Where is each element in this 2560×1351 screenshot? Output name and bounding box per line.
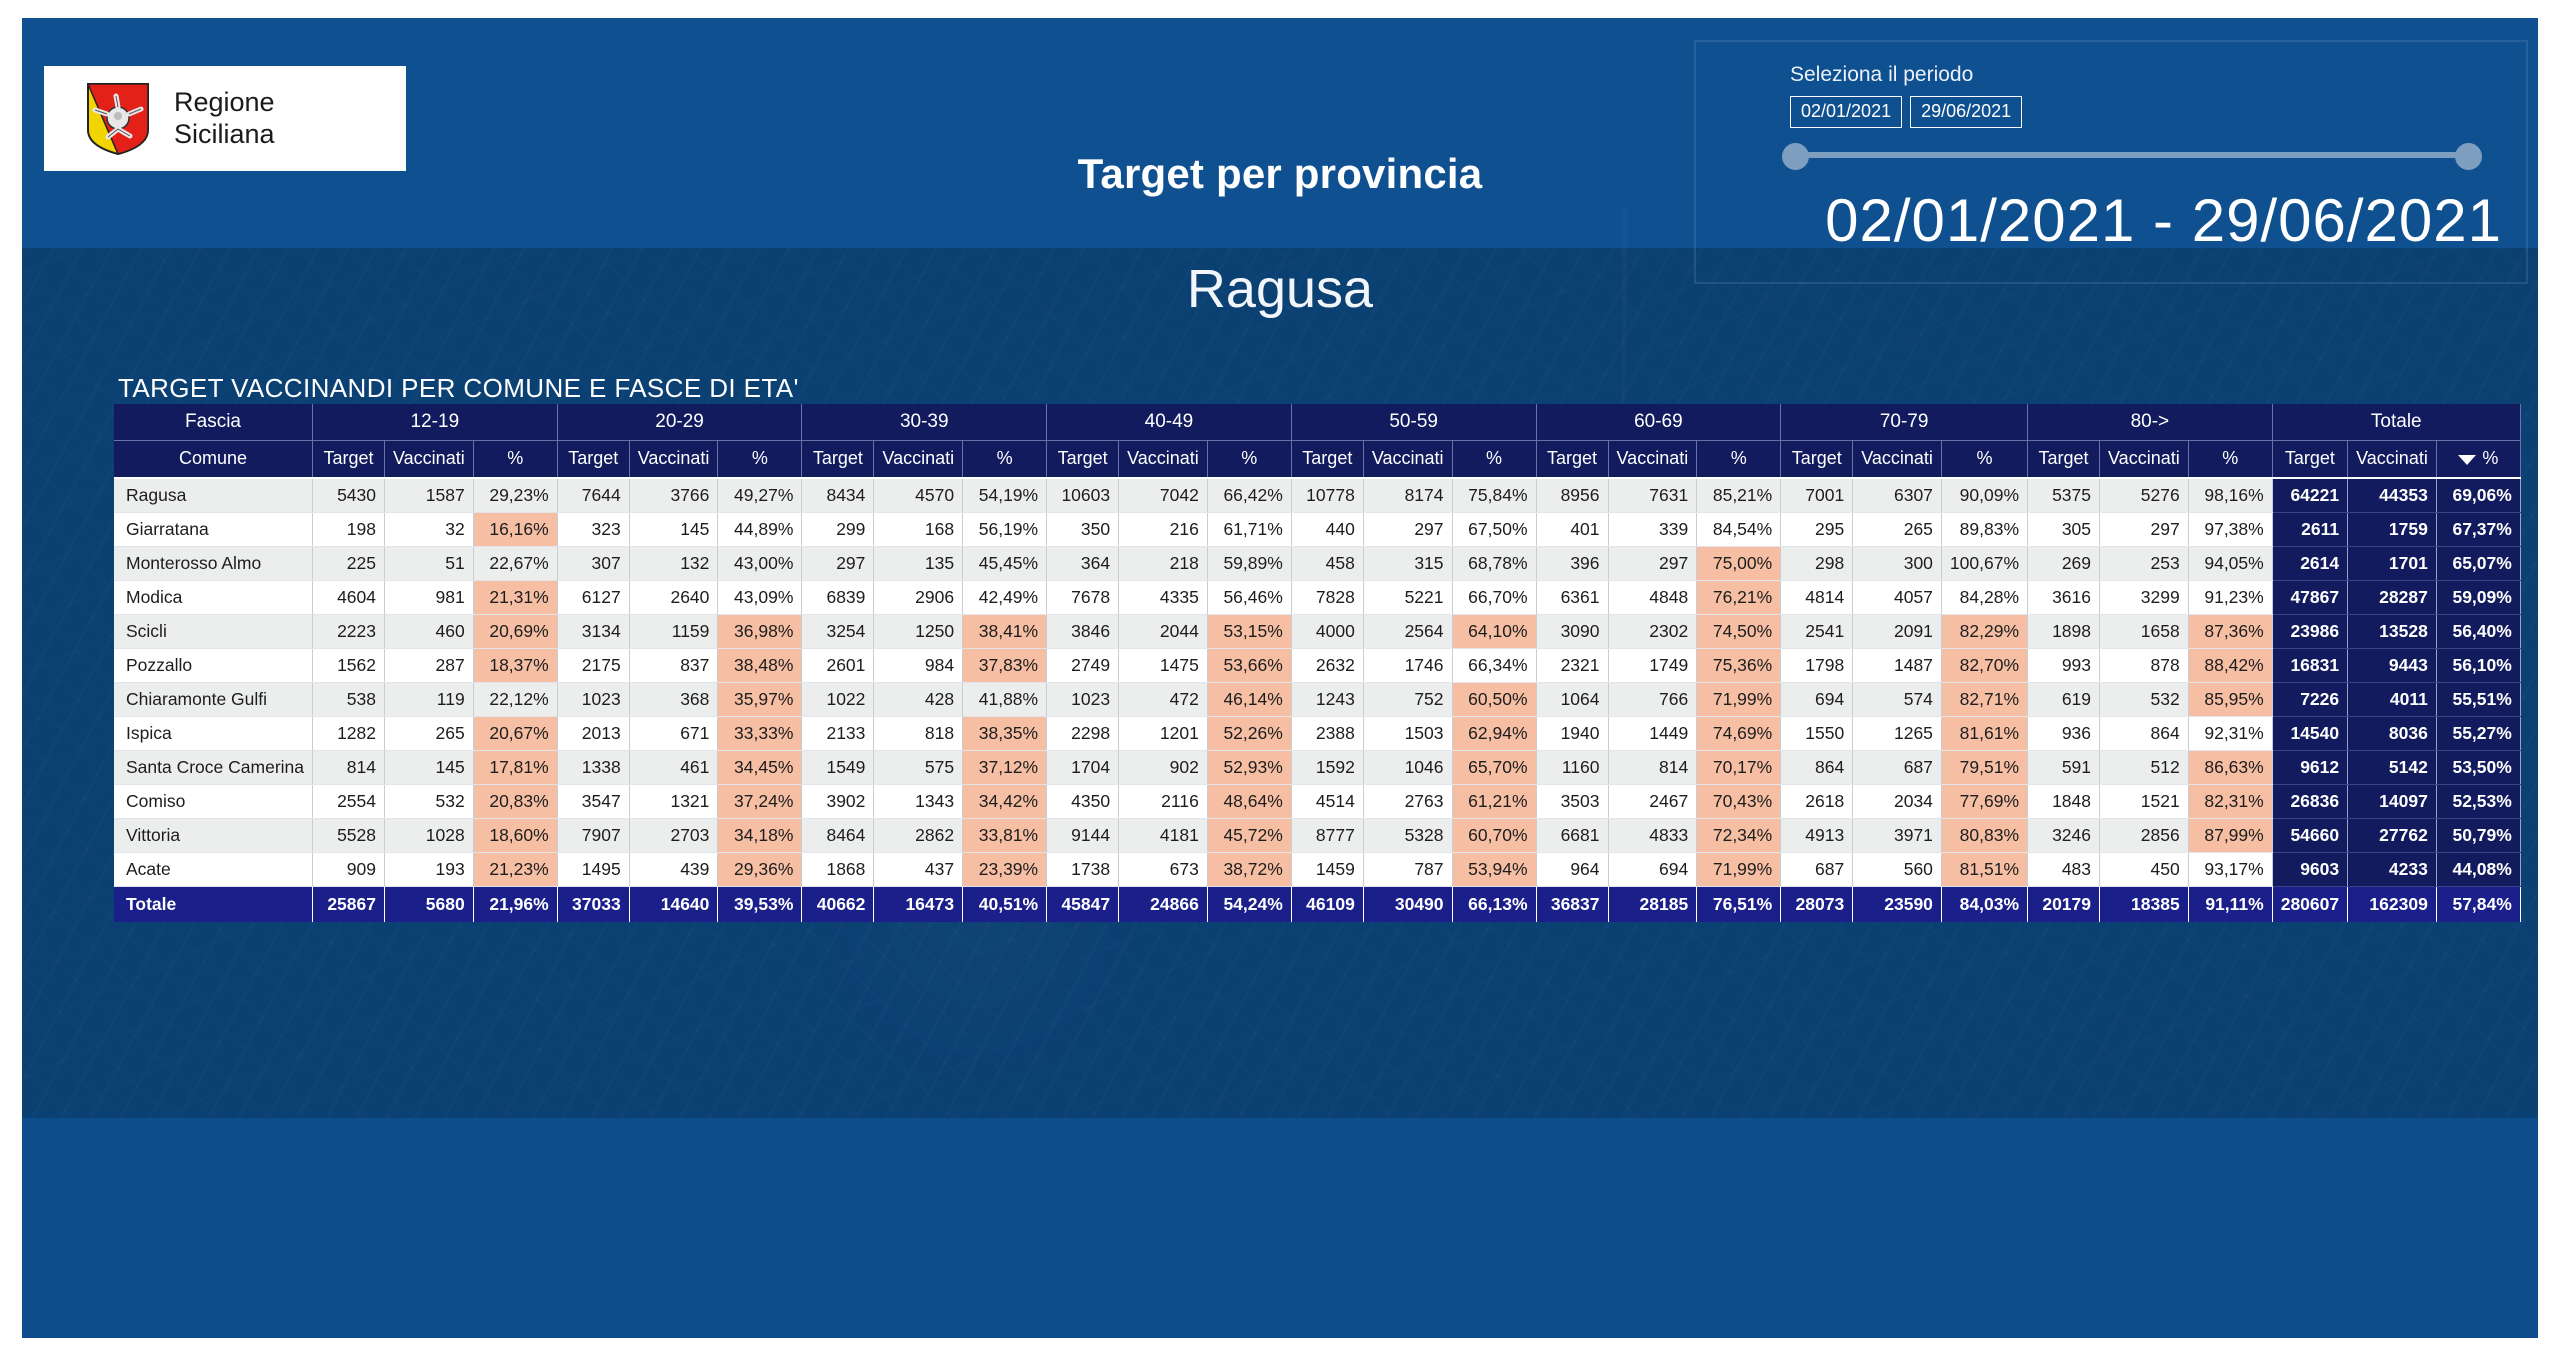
cell-12-19-vaccinati: 145 xyxy=(385,750,474,784)
cell-30-39-target: 8434 xyxy=(802,478,874,512)
sort-descending-icon xyxy=(2458,455,2476,465)
cell-12-19-pct: 21,31% xyxy=(473,580,557,614)
cell-60-69-target: 1064 xyxy=(1536,682,1608,716)
cell-80---vaccinati: 864 xyxy=(2100,716,2189,750)
cell-30-39-vaccinati: 437 xyxy=(874,852,963,886)
cell-60-69-target: 3090 xyxy=(1536,614,1608,648)
cell-40-49-vaccinati: 1475 xyxy=(1119,648,1208,682)
table-row[interactable]: Scicli222346020,69%3134115936,98%3254125… xyxy=(114,614,2520,648)
cell-70-79-vaccinati: 1265 xyxy=(1853,716,1942,750)
cell-40-49-target: 1704 xyxy=(1047,750,1119,784)
column-header-30-39-target[interactable]: Target xyxy=(802,440,874,478)
cell-20-29-vaccinati: 837 xyxy=(629,648,718,682)
column-header-70-79-pct[interactable]: % xyxy=(1941,440,2027,478)
column-header-20-29-target[interactable]: Target xyxy=(557,440,629,478)
cell-40-49-pct: 52,26% xyxy=(1207,716,1291,750)
cell-70-79-vaccinati: 574 xyxy=(1853,682,1942,716)
table-row[interactable]: Comiso255453220,83%3547132137,24%3902134… xyxy=(114,784,2520,818)
cell-30-39-vaccinati: 984 xyxy=(874,648,963,682)
cell-20-29-vaccinati: 368 xyxy=(629,682,718,716)
cell-40-49-vaccinati: 902 xyxy=(1119,750,1208,784)
cell-12-19-vaccinati: 119 xyxy=(385,682,474,716)
column-header-comune[interactable]: Comune xyxy=(114,440,313,478)
cell-comune: Giarratana xyxy=(114,512,313,546)
cell-30-39-vaccinati: 1250 xyxy=(874,614,963,648)
column-header-40-49-vaccinati[interactable]: Vaccinati xyxy=(1119,440,1208,478)
cell-20-29-target: 1023 xyxy=(557,682,629,716)
cell-totale-target: 9603 xyxy=(2272,852,2347,886)
cell-60-69-vaccinati: 1749 xyxy=(1608,648,1697,682)
column-header-60-69-vaccinati[interactable]: Vaccinati xyxy=(1608,440,1697,478)
cell-30-39-vaccinati: 4570 xyxy=(874,478,963,512)
cell-total-30-39-target: 40662 xyxy=(802,886,874,922)
cell-30-39-pct: 41,88% xyxy=(963,682,1047,716)
cell-60-69-target: 1160 xyxy=(1536,750,1608,784)
cell-30-39-vaccinati: 818 xyxy=(874,716,963,750)
cell-70-79-target: 295 xyxy=(1781,512,1853,546)
date-from-chip[interactable]: 02/01/2021 xyxy=(1790,96,1902,128)
cell-comune: Santa Croce Camerina xyxy=(114,750,313,784)
cell-30-39-pct: 37,83% xyxy=(963,648,1047,682)
cell-20-29-vaccinati: 1159 xyxy=(629,614,718,648)
cell-totale-vaccinati: 27762 xyxy=(2348,818,2437,852)
cell-60-69-target: 401 xyxy=(1536,512,1608,546)
cell-80---target: 936 xyxy=(2028,716,2100,750)
period-slider[interactable] xyxy=(1782,140,2482,170)
cell-70-79-vaccinati: 265 xyxy=(1853,512,1942,546)
cell-30-39-target: 299 xyxy=(802,512,874,546)
dashboard-root: Regione Siciliana Target per provincia R… xyxy=(0,0,2560,1351)
cell-60-69-vaccinati: 694 xyxy=(1608,852,1697,886)
slider-knob-right[interactable] xyxy=(2455,143,2482,170)
cell-40-49-pct: 53,66% xyxy=(1207,648,1291,682)
cell-70-79-pct: 81,61% xyxy=(1941,716,2027,750)
table-row[interactable]: Santa Croce Camerina81414517,81%13384613… xyxy=(114,750,2520,784)
cell-70-79-vaccinati: 687 xyxy=(1853,750,1942,784)
cell-60-69-pct: 76,21% xyxy=(1697,580,1781,614)
cell-50-59-target: 1592 xyxy=(1291,750,1363,784)
cell-total-60-69-vaccinati: 28185 xyxy=(1608,886,1697,922)
cell-12-19-target: 1282 xyxy=(313,716,385,750)
cell-40-49-target: 350 xyxy=(1047,512,1119,546)
cell-totale-vaccinati: 1759 xyxy=(2348,512,2437,546)
cell-70-79-target: 687 xyxy=(1781,852,1853,886)
cell-totale-vaccinati: 8036 xyxy=(2348,716,2437,750)
cell-30-39-vaccinati: 575 xyxy=(874,750,963,784)
group-header-12-19: 12-19 xyxy=(313,404,558,440)
cell-30-39-target: 6839 xyxy=(802,580,874,614)
cell-12-19-vaccinati: 1587 xyxy=(385,478,474,512)
cell-12-19-target: 225 xyxy=(313,546,385,580)
cell-60-69-target: 964 xyxy=(1536,852,1608,886)
cell-70-79-pct: 82,70% xyxy=(1941,648,2027,682)
table-row[interactable]: Ragusa5430158729,23%7644376649,27%843445… xyxy=(114,478,2520,512)
cell-12-19-target: 1562 xyxy=(313,648,385,682)
brand-line-1: Regione xyxy=(174,87,275,119)
cell-30-39-target: 3902 xyxy=(802,784,874,818)
cell-50-59-pct: 66,70% xyxy=(1452,580,1536,614)
cell-20-29-vaccinati: 439 xyxy=(629,852,718,886)
cell-50-59-pct: 65,70% xyxy=(1452,750,1536,784)
cell-70-79-vaccinati: 1487 xyxy=(1853,648,1942,682)
cell-30-39-pct: 33,81% xyxy=(963,818,1047,852)
table-row[interactable]: Acate90919321,23%149543929,36%186843723,… xyxy=(114,852,2520,886)
cell-12-19-pct: 21,23% xyxy=(473,852,557,886)
cell-50-59-pct: 53,94% xyxy=(1452,852,1536,886)
cell-80---vaccinati: 512 xyxy=(2100,750,2189,784)
cell-40-49-pct: 59,89% xyxy=(1207,546,1291,580)
cell-total-60-69-target: 36837 xyxy=(1536,886,1608,922)
period-selector[interactable]: Seleziona il periodo 02/01/2021 29/06/20… xyxy=(1782,63,2482,170)
column-header-12-19-pct[interactable]: % xyxy=(473,440,557,478)
cell-totale-pct: 44,08% xyxy=(2436,852,2520,886)
cell-30-39-vaccinati: 2906 xyxy=(874,580,963,614)
cell-50-59-vaccinati: 752 xyxy=(1363,682,1452,716)
cell-40-49-pct: 66,42% xyxy=(1207,478,1291,512)
cell-20-29-vaccinati: 1321 xyxy=(629,784,718,818)
cell-20-29-target: 1338 xyxy=(557,750,629,784)
cell-40-49-vaccinati: 1201 xyxy=(1119,716,1208,750)
cell-40-49-target: 3846 xyxy=(1047,614,1119,648)
cell-total-40-49-pct: 54,24% xyxy=(1207,886,1291,922)
cell-50-59-target: 2632 xyxy=(1291,648,1363,682)
cell-70-79-vaccinati: 560 xyxy=(1853,852,1942,886)
table-head: Fascia12-1920-2930-3940-4950-5960-6970-7… xyxy=(114,404,2520,478)
cell-30-39-vaccinati: 2862 xyxy=(874,818,963,852)
cell-total-30-39-pct: 40,51% xyxy=(963,886,1047,922)
brand-line-2: Siciliana xyxy=(174,119,275,151)
cell-60-69-target: 3503 xyxy=(1536,784,1608,818)
cell-totale-vaccinati: 44353 xyxy=(2348,478,2437,512)
column-header-20-29-pct[interactable]: % xyxy=(718,440,802,478)
cell-20-29-pct: 34,45% xyxy=(718,750,802,784)
column-header-12-19-vaccinati[interactable]: Vaccinati xyxy=(385,440,474,478)
cell-total-80---pct: 91,11% xyxy=(2188,886,2272,922)
cell-20-29-pct: 43,00% xyxy=(718,546,802,580)
cell-70-79-target: 4913 xyxy=(1781,818,1853,852)
cell-totale-vaccinati: 5142 xyxy=(2348,750,2437,784)
cell-40-49-vaccinati: 216 xyxy=(1119,512,1208,546)
cell-80---target: 269 xyxy=(2028,546,2100,580)
cell-30-39-target: 1868 xyxy=(802,852,874,886)
cell-70-79-pct: 82,29% xyxy=(1941,614,2027,648)
column-header-12-19-target[interactable]: Target xyxy=(313,440,385,478)
cell-totale-vaccinati: 13528 xyxy=(2348,614,2437,648)
cell-totale-pct: 52,53% xyxy=(2436,784,2520,818)
cell-totale-target: 23986 xyxy=(2272,614,2347,648)
cell-20-29-pct: 49,27% xyxy=(718,478,802,512)
cell-total-totale-pct: 57,84% xyxy=(2436,886,2520,922)
slider-knob-left[interactable] xyxy=(1782,143,1809,170)
cell-20-29-target: 323 xyxy=(557,512,629,546)
column-header-50-59-vaccinati[interactable]: Vaccinati xyxy=(1363,440,1452,478)
cell-60-69-vaccinati: 7631 xyxy=(1608,478,1697,512)
column-header-70-79-target[interactable]: Target xyxy=(1781,440,1853,478)
cell-60-69-vaccinati: 4848 xyxy=(1608,580,1697,614)
cell-60-69-target: 2321 xyxy=(1536,648,1608,682)
cell-comune: Ragusa xyxy=(114,478,313,512)
cell-20-29-pct: 34,18% xyxy=(718,818,802,852)
cell-50-59-vaccinati: 315 xyxy=(1363,546,1452,580)
cell-50-59-target: 1459 xyxy=(1291,852,1363,886)
cell-80---target: 1848 xyxy=(2028,784,2100,818)
cell-70-79-pct: 79,51% xyxy=(1941,750,2027,784)
cell-80---target: 305 xyxy=(2028,512,2100,546)
column-header-50-59-target[interactable]: Target xyxy=(1291,440,1363,478)
footer-band xyxy=(22,1118,2538,1338)
table-row[interactable]: Pozzallo156228718,37%217583738,48%260198… xyxy=(114,648,2520,682)
column-header-80---pct[interactable]: % xyxy=(2188,440,2272,478)
cell-total-50-59-target: 46109 xyxy=(1291,886,1363,922)
table-row[interactable]: Chiaramonte Gulfi53811922,12%102336835,9… xyxy=(114,682,2520,716)
cell-60-69-pct: 85,21% xyxy=(1697,478,1781,512)
cell-80---pct: 82,31% xyxy=(2188,784,2272,818)
group-header-20-29: 20-29 xyxy=(557,404,802,440)
cell-20-29-pct: 44,89% xyxy=(718,512,802,546)
cell-50-59-target: 458 xyxy=(1291,546,1363,580)
page-subtitle: Ragusa xyxy=(22,258,2538,320)
cell-total-40-49-vaccinati: 24866 xyxy=(1119,886,1208,922)
table-row[interactable]: Ispica128226520,67%201367133,33%21338183… xyxy=(114,716,2520,750)
cell-40-49-pct: 45,72% xyxy=(1207,818,1291,852)
cell-80---target: 591 xyxy=(2028,750,2100,784)
cell-70-79-pct: 81,51% xyxy=(1941,852,2027,886)
cell-totale-target: 9612 xyxy=(2272,750,2347,784)
group-header-50-59: 50-59 xyxy=(1291,404,1536,440)
cell-20-29-pct: 29,36% xyxy=(718,852,802,886)
cell-80---vaccinati: 1658 xyxy=(2100,614,2189,648)
cell-60-69-pct: 74,69% xyxy=(1697,716,1781,750)
cell-40-49-target: 10603 xyxy=(1047,478,1119,512)
cell-60-69-pct: 71,99% xyxy=(1697,682,1781,716)
sicilian-trinacria-crest-icon xyxy=(86,82,150,156)
cell-80---vaccinati: 3299 xyxy=(2100,580,2189,614)
cell-12-19-vaccinati: 32 xyxy=(385,512,474,546)
cell-80---target: 1898 xyxy=(2028,614,2100,648)
cell-total-50-59-vaccinati: 30490 xyxy=(1363,886,1452,922)
column-header-40-49-pct[interactable]: % xyxy=(1207,440,1291,478)
cell-totale-pct: 56,40% xyxy=(2436,614,2520,648)
cell-20-29-vaccinati: 671 xyxy=(629,716,718,750)
cell-total-40-49-target: 45847 xyxy=(1047,886,1119,922)
table-row[interactable]: Vittoria5528102818,60%7907270334,18%8464… xyxy=(114,818,2520,852)
cell-80---target: 483 xyxy=(2028,852,2100,886)
column-header-totale-pct[interactable]: % xyxy=(2436,440,2520,478)
cell-totale-vaccinati: 14097 xyxy=(2348,784,2437,818)
cell-30-39-target: 2133 xyxy=(802,716,874,750)
cell-60-69-vaccinati: 814 xyxy=(1608,750,1697,784)
column-header-30-39-pct[interactable]: % xyxy=(963,440,1047,478)
cell-70-79-target: 7001 xyxy=(1781,478,1853,512)
cell-40-49-vaccinati: 218 xyxy=(1119,546,1208,580)
date-to-chip[interactable]: 29/06/2021 xyxy=(1910,96,2022,128)
cell-total-label: Totale xyxy=(114,886,313,922)
cell-12-19-target: 198 xyxy=(313,512,385,546)
cell-20-29-vaccinati: 3766 xyxy=(629,478,718,512)
cell-totale-pct: 55,51% xyxy=(2436,682,2520,716)
cell-totale-vaccinati: 4233 xyxy=(2348,852,2437,886)
cell-40-49-target: 2749 xyxy=(1047,648,1119,682)
cell-total-30-39-vaccinati: 16473 xyxy=(874,886,963,922)
cell-totale-pct: 55,27% xyxy=(2436,716,2520,750)
cell-comune: Ispica xyxy=(114,716,313,750)
cell-12-19-target: 814 xyxy=(313,750,385,784)
cell-total-20-29-target: 37033 xyxy=(557,886,629,922)
cell-30-39-pct: 42,49% xyxy=(963,580,1047,614)
group-header-60-69: 60-69 xyxy=(1536,404,1781,440)
cell-totale-target: 14540 xyxy=(2272,716,2347,750)
cell-total-70-79-vaccinati: 23590 xyxy=(1853,886,1942,922)
cell-50-59-pct: 75,84% xyxy=(1452,478,1536,512)
cell-20-29-target: 307 xyxy=(557,546,629,580)
cell-12-19-vaccinati: 1028 xyxy=(385,818,474,852)
cell-70-79-target: 2618 xyxy=(1781,784,1853,818)
cell-totale-vaccinati: 9443 xyxy=(2348,648,2437,682)
column-header-totale-target[interactable]: Target xyxy=(2272,440,2347,478)
cell-60-69-pct: 70,17% xyxy=(1697,750,1781,784)
cell-80---pct: 92,31% xyxy=(2188,716,2272,750)
column-header-70-79-vaccinati[interactable]: Vaccinati xyxy=(1853,440,1942,478)
cell-60-69-pct: 75,00% xyxy=(1697,546,1781,580)
column-header-50-59-pct[interactable]: % xyxy=(1452,440,1536,478)
column-header-60-69-pct[interactable]: % xyxy=(1697,440,1781,478)
cell-total-60-69-pct: 76,51% xyxy=(1697,886,1781,922)
cell-12-19-pct: 20,83% xyxy=(473,784,557,818)
cell-totale-vaccinati: 4011 xyxy=(2348,682,2437,716)
cell-50-59-target: 2388 xyxy=(1291,716,1363,750)
cell-total-70-79-target: 28073 xyxy=(1781,886,1853,922)
cell-20-29-pct: 35,97% xyxy=(718,682,802,716)
cell-50-59-pct: 64,10% xyxy=(1452,614,1536,648)
cell-totale-pct: 50,79% xyxy=(2436,818,2520,852)
cell-20-29-target: 7907 xyxy=(557,818,629,852)
group-header-30-39: 30-39 xyxy=(802,404,1047,440)
cell-30-39-vaccinati: 168 xyxy=(874,512,963,546)
cell-40-49-pct: 53,15% xyxy=(1207,614,1291,648)
column-header-40-49-target[interactable]: Target xyxy=(1047,440,1119,478)
cell-60-69-vaccinati: 297 xyxy=(1608,546,1697,580)
cell-60-69-target: 8956 xyxy=(1536,478,1608,512)
cell-30-39-target: 3254 xyxy=(802,614,874,648)
cell-50-59-target: 4514 xyxy=(1291,784,1363,818)
cell-total-totale-vaccinati: 162309 xyxy=(2348,886,2437,922)
cell-total-12-19-pct: 21,96% xyxy=(473,886,557,922)
column-header-totale-vaccinati[interactable]: Vaccinati xyxy=(2348,440,2437,478)
cell-80---vaccinati: 297 xyxy=(2100,512,2189,546)
cell-comune: Pozzallo xyxy=(114,648,313,682)
cell-80---vaccinati: 878 xyxy=(2100,648,2189,682)
cell-70-79-vaccinati: 3971 xyxy=(1853,818,1942,852)
table-row[interactable]: Giarratana1983216,16%32314544,89%2991685… xyxy=(114,512,2520,546)
cell-12-19-vaccinati: 981 xyxy=(385,580,474,614)
cell-70-79-vaccinati: 6307 xyxy=(1853,478,1942,512)
cell-20-29-pct: 43,09% xyxy=(718,580,802,614)
cell-50-59-pct: 68,78% xyxy=(1452,546,1536,580)
cell-30-39-pct: 37,12% xyxy=(963,750,1047,784)
cell-totale-pct: 59,09% xyxy=(2436,580,2520,614)
cell-70-79-target: 1798 xyxy=(1781,648,1853,682)
table-row[interactable]: Modica460498121,31%6127264043,09%6839290… xyxy=(114,580,2520,614)
cell-60-69-target: 1940 xyxy=(1536,716,1608,750)
cell-12-19-vaccinati: 460 xyxy=(385,614,474,648)
cell-30-39-pct: 38,35% xyxy=(963,716,1047,750)
cell-totale-pct: 67,37% xyxy=(2436,512,2520,546)
cell-totale-pct: 69,06% xyxy=(2436,478,2520,512)
cell-80---pct: 85,95% xyxy=(2188,682,2272,716)
cell-12-19-target: 2223 xyxy=(313,614,385,648)
table-container: Fascia12-1920-2930-3940-4950-5960-6970-7… xyxy=(114,404,2521,922)
cell-12-19-pct: 18,60% xyxy=(473,818,557,852)
table-row[interactable]: Monterosso Almo2255122,67%30713243,00%29… xyxy=(114,546,2520,580)
cell-12-19-pct: 17,81% xyxy=(473,750,557,784)
vaccination-table: Fascia12-1920-2930-3940-4950-5960-6970-7… xyxy=(114,404,2521,922)
column-header-30-39-vaccinati[interactable]: Vaccinati xyxy=(874,440,963,478)
cell-20-29-pct: 38,48% xyxy=(718,648,802,682)
dashboard-page: Regione Siciliana Target per provincia R… xyxy=(22,18,2538,1338)
cell-12-19-pct: 18,37% xyxy=(473,648,557,682)
cell-totale-pct: 65,07% xyxy=(2436,546,2520,580)
cell-12-19-target: 4604 xyxy=(313,580,385,614)
cell-60-69-target: 6361 xyxy=(1536,580,1608,614)
cell-80---target: 993 xyxy=(2028,648,2100,682)
cell-80---vaccinati: 2856 xyxy=(2100,818,2189,852)
column-header-20-29-vaccinati[interactable]: Vaccinati xyxy=(629,440,718,478)
cell-40-49-pct: 52,93% xyxy=(1207,750,1291,784)
column-header-80---target[interactable]: Target xyxy=(2028,440,2100,478)
table-total-row: Totale25867568021,96%370331464039,53%406… xyxy=(114,886,2520,922)
cell-40-49-pct: 48,64% xyxy=(1207,784,1291,818)
cell-60-69-target: 396 xyxy=(1536,546,1608,580)
cell-60-69-vaccinati: 766 xyxy=(1608,682,1697,716)
cell-80---pct: 91,23% xyxy=(2188,580,2272,614)
cell-30-39-vaccinati: 428 xyxy=(874,682,963,716)
cell-30-39-pct: 34,42% xyxy=(963,784,1047,818)
cell-20-29-pct: 37,24% xyxy=(718,784,802,818)
cell-80---pct: 87,36% xyxy=(2188,614,2272,648)
slider-track[interactable] xyxy=(1794,152,2472,158)
cell-40-49-vaccinati: 2044 xyxy=(1119,614,1208,648)
cell-80---vaccinati: 1521 xyxy=(2100,784,2189,818)
cell-total-80---target: 20179 xyxy=(2028,886,2100,922)
column-header-60-69-target[interactable]: Target xyxy=(1536,440,1608,478)
cell-70-79-pct: 100,67% xyxy=(1941,546,2027,580)
cell-70-79-vaccinati: 2091 xyxy=(1853,614,1942,648)
cell-12-19-pct: 20,69% xyxy=(473,614,557,648)
cell-40-49-pct: 56,46% xyxy=(1207,580,1291,614)
cell-50-59-vaccinati: 787 xyxy=(1363,852,1452,886)
cell-12-19-pct: 22,12% xyxy=(473,682,557,716)
cell-50-59-vaccinati: 297 xyxy=(1363,512,1452,546)
column-header-80---vaccinati[interactable]: Vaccinati xyxy=(2100,440,2189,478)
cell-50-59-target: 10778 xyxy=(1291,478,1363,512)
cell-40-49-target: 2298 xyxy=(1047,716,1119,750)
cell-comune: Acate xyxy=(114,852,313,886)
cell-12-19-vaccinati: 287 xyxy=(385,648,474,682)
cell-40-49-pct: 46,14% xyxy=(1207,682,1291,716)
cell-total-totale-target: 280607 xyxy=(2272,886,2347,922)
period-chips: 02/01/2021 29/06/2021 xyxy=(1782,96,2482,128)
cell-total-80---vaccinati: 18385 xyxy=(2100,886,2189,922)
cell-totale-vaccinati: 28287 xyxy=(2348,580,2437,614)
cell-70-79-vaccinati: 4057 xyxy=(1853,580,1942,614)
cell-20-29-target: 3134 xyxy=(557,614,629,648)
cell-70-79-pct: 80,83% xyxy=(1941,818,2027,852)
cell-totale-target: 54660 xyxy=(2272,818,2347,852)
cell-comune: Vittoria xyxy=(114,818,313,852)
cell-30-39-pct: 45,45% xyxy=(963,546,1047,580)
cell-comune: Monterosso Almo xyxy=(114,546,313,580)
cell-12-19-target: 5430 xyxy=(313,478,385,512)
